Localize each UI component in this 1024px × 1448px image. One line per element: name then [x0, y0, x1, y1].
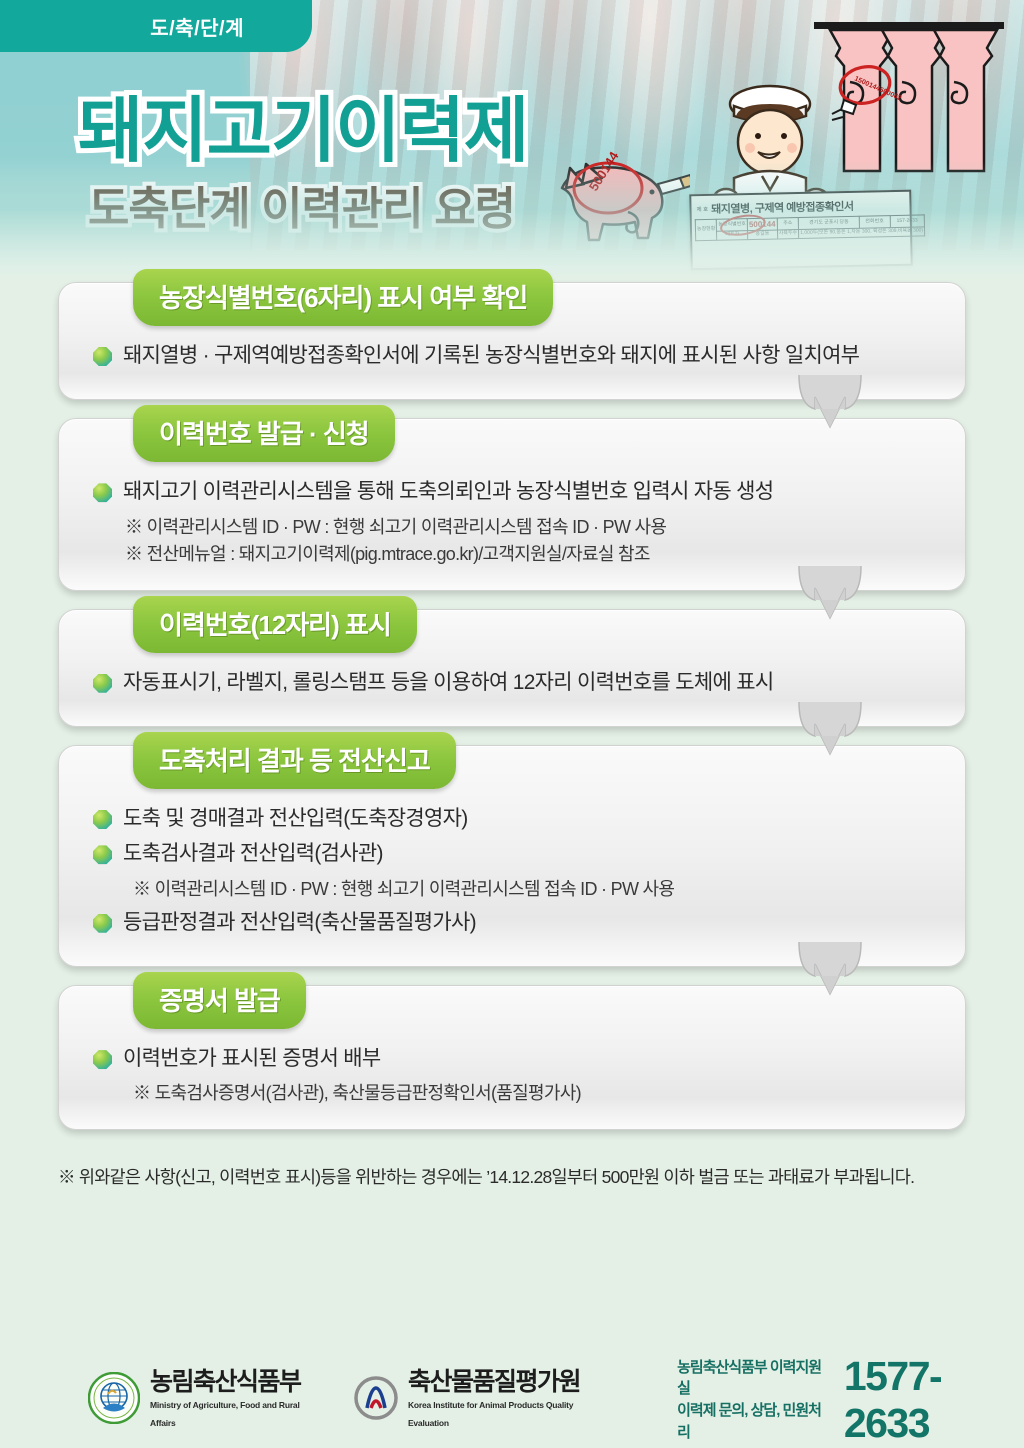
hanging-carcass-illustration: 1500144500062: [812, 18, 1012, 183]
bullet-text: 돼지열병 · 구제역예방접종확인서에 기록된 농장식별번호와 돼지에 표시된 사…: [123, 342, 859, 370]
mafra-name-kr: 농림축산식품부: [150, 1368, 301, 1396]
ekape-logo-text: 축산물품질평가원 Korea Institute for Animal Prod…: [408, 1369, 613, 1431]
bullet-dot-icon: [93, 1050, 112, 1069]
mafra-logo: 농림축산식품부 Ministry of Agriculture, Food an…: [88, 1369, 324, 1431]
step-panel-2: 이력번호 발급 · 신청 돼지고기 이력관리시스템을 통해 도축의뢰인과 농장식…: [58, 418, 966, 590]
mafra-logo-text: 농림축산식품부 Ministry of Agriculture, Food an…: [150, 1369, 324, 1431]
step-chip-5: 증명서 발급: [133, 972, 306, 1029]
step-chip-3: 이력번호(12자리) 표시: [133, 596, 417, 653]
bullet-text: 이력번호가 표시된 증명서 배부: [123, 1045, 380, 1073]
mafra-emblem-icon: [88, 1372, 140, 1429]
bullet-dot-icon: [93, 483, 112, 502]
bullet-dot-icon: [93, 845, 112, 864]
step-body-5: 이력번호가 표시된 증명서 배부 ※ 도축검사증명서(검사관), 축산물등급판정…: [59, 1029, 965, 1129]
step-note: ※ 전산메뉴얼 : 돼지고기이력제(pig.mtrace.go.kr)/고객지원…: [125, 541, 937, 568]
penalty-warning-text: ※ 위와같은 사항(신고, 이력번호 표시)등을 위반하는 경우에는 ’14.1…: [58, 1148, 966, 1189]
bullet-text: 돼지고기 이력관리시스템을 통해 도축의뢰인과 농장식별번호 입력시 자동 생성: [123, 478, 773, 506]
header-fade: [0, 162, 1024, 282]
bullet-text: 등급판정결과 전산입력(축산물품질평가사): [123, 909, 476, 937]
step-note: ※ 이력관리시스템 ID · PW : 현행 쇠고기 이력관리시스템 접속 ID…: [125, 514, 937, 541]
poster-footer: 농림축산식품부 Ministry of Agriculture, Food an…: [0, 1352, 1024, 1448]
bullet-dot-icon: [93, 347, 112, 366]
step-chip-1: 농장식별번호(6자리) 표시 여부 확인: [133, 269, 553, 326]
step-chip-4: 도축처리 결과 등 전산신고: [133, 732, 456, 789]
ekape-logo: 축산물품질평가원 Korea Institute for Animal Prod…: [354, 1369, 613, 1431]
bullet-text: 도축 및 경매결과 전산입력(도축장경영자): [123, 805, 468, 833]
bullet-item: 돼지고기 이력관리시스템을 통해 도축의뢰인과 농장식별번호 입력시 자동 생성: [93, 478, 937, 506]
bullet-text: 자동표시기, 라벨지, 롤링스탬프 등을 이용하여 12자리 이력번호를 도체에…: [123, 669, 774, 697]
step-note: ※ 이력관리시스템 ID · PW : 현행 쇠고기 이력관리시스템 접속 ID…: [133, 876, 937, 903]
contact-line-2: 이력제 문의, 상담, 민원처리: [677, 1402, 821, 1441]
ekape-name-kr: 축산물품질평가원: [408, 1368, 580, 1396]
step-panel-5: 증명서 발급 이력번호가 표시된 증명서 배부 ※ 도축검사증명서(검사관), …: [58, 985, 966, 1130]
step-chip-label-3: 이력번호(12자리) 표시: [159, 610, 391, 640]
step-body-4: 도축 및 경매결과 전산입력(도축장경영자) 도축검사결과 전산입력(검사관) …: [59, 789, 965, 966]
stage-tab-label: 도/축/단/계: [150, 12, 244, 41]
step-panel-3: 이력번호(12자리) 표시 자동표시기, 라벨지, 롤링스탬프 등을 이용하여 …: [58, 609, 966, 727]
ekape-emblem-icon: [354, 1376, 398, 1425]
contact-line-1: 농림축산식품부 이력지원실: [677, 1359, 821, 1398]
step-chip-2: 이력번호 발급 · 신청: [133, 405, 395, 462]
bullet-item: 도축 및 경매결과 전산입력(도축장경영자): [93, 805, 937, 833]
contact-block: 농림축산식품부 이력지원실 이력제 문의, 상담, 민원처리 1577-2633: [677, 1353, 1024, 1447]
steps-container: 농장식별번호(6자리) 표시 여부 확인 돼지열병 · 구제역예방접종확인서에 …: [0, 282, 1024, 1130]
step-body-3: 자동표시기, 라벨지, 롤링스탬프 등을 이용하여 12자리 이력번호를 도체에…: [59, 653, 965, 726]
bullet-item: 등급판정결과 전산입력(축산물품질평가사): [93, 909, 937, 937]
step-chip-label-4: 도축처리 결과 등 전산신고: [159, 746, 430, 776]
bullet-dot-icon: [93, 914, 112, 933]
step-chip-label-1: 농장식별번호(6자리) 표시 여부 확인: [159, 283, 527, 313]
stage-tab: 도/축/단/계: [0, 0, 312, 52]
step-body-2: 돼지고기 이력관리시스템을 통해 도축의뢰인과 농장식별번호 입력시 자동 생성…: [59, 462, 965, 589]
bullet-item: 자동표시기, 라벨지, 롤링스탬프 등을 이용하여 12자리 이력번호를 도체에…: [93, 669, 937, 697]
poster-title: 돼지고기이력제: [78, 74, 528, 176]
mafra-name-en: Ministry of Agriculture, Food and Rural …: [150, 1400, 300, 1428]
bullet-dot-icon: [93, 810, 112, 829]
step-chip-label-2: 이력번호 발급 · 신청: [159, 419, 369, 449]
contact-description: 농림축산식품부 이력지원실 이력제 문의, 상담, 민원처리: [677, 1357, 832, 1444]
bullet-item: 이력번호가 표시된 증명서 배부: [93, 1045, 937, 1073]
bullet-text: 도축검사결과 전산입력(검사관): [123, 840, 383, 868]
ekape-name-en: Korea Institute for Animal Products Qual…: [408, 1400, 573, 1428]
step-panel-1: 농장식별번호(6자리) 표시 여부 확인 돼지열병 · 구제역예방접종확인서에 …: [58, 282, 966, 400]
bullet-dot-icon: [93, 674, 112, 693]
step-note: ※ 도축검사증명서(검사관), 축산물등급판정확인서(품질평가사): [133, 1080, 937, 1107]
contact-phone-number: 1577-2633: [844, 1353, 1024, 1447]
poster-header: 1500144500062: [0, 0, 1024, 282]
bullet-item: 돼지열병 · 구제역예방접종확인서에 기록된 농장식별번호와 돼지에 표시된 사…: [93, 342, 937, 370]
step-panel-4: 도축처리 결과 등 전산신고 도축 및 경매결과 전산입력(도축장경영자) 도축…: [58, 745, 966, 967]
step-chip-label-5: 증명서 발급: [159, 986, 280, 1016]
bullet-item: 도축검사결과 전산입력(검사관): [93, 840, 937, 868]
step-body-1: 돼지열병 · 구제역예방접종확인서에 기록된 농장식별번호와 돼지에 표시된 사…: [59, 326, 965, 399]
